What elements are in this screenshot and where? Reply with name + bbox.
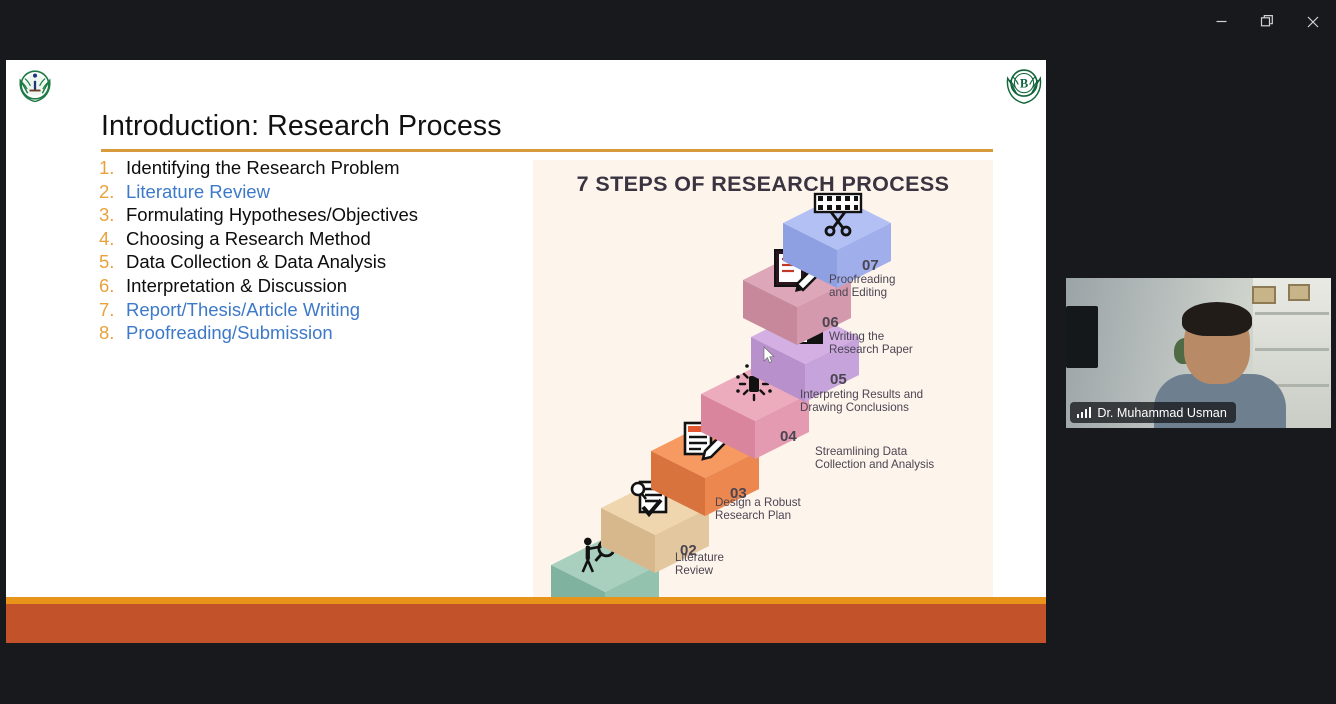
list-item-number: 7. <box>99 299 126 321</box>
title-underline <box>101 149 993 152</box>
footer-band <box>6 604 1046 643</box>
list-item-number: 1. <box>99 157 126 179</box>
signal-bars-icon <box>1077 407 1091 418</box>
participant-name: Dr. Muhammad Usman <box>1097 406 1226 420</box>
step-label-04: Streamlining Data Collection and Analysi… <box>815 446 934 472</box>
list-item: 2. Literature Review <box>99 181 539 205</box>
list-item-number: 3. <box>99 204 126 226</box>
list-item-label: Report/Thesis/Article Writing <box>126 299 360 321</box>
wall-frame <box>1252 286 1276 304</box>
step-label-03: Design a Robust Research Plan <box>715 497 801 523</box>
step-label-07: Proofreading and Editing <box>829 274 895 300</box>
list-item: 6. Interpretation & Discussion <box>99 275 539 299</box>
step-label-05: Interpreting Results and Drawing Conclus… <box>800 389 923 415</box>
research-steps-list: 1. Identifying the Research Problem 2. L… <box>99 157 539 346</box>
institute-monogram-logo: B <box>1000 61 1046 109</box>
list-item-number: 6. <box>99 275 126 297</box>
participant-hair <box>1182 302 1252 336</box>
list-item-label: Literature Review <box>126 181 270 203</box>
list-item-number: 8. <box>99 322 126 344</box>
participant-name-badge: Dr. Muhammad Usman <box>1070 402 1236 423</box>
footer-accent-strip <box>6 597 1046 604</box>
svg-text:B: B <box>1020 76 1028 90</box>
minimize-button[interactable] <box>1198 0 1244 43</box>
list-item-number: 5. <box>99 251 126 273</box>
list-item-number: 4. <box>99 228 126 250</box>
close-button[interactable] <box>1290 0 1336 43</box>
list-item: 4. Choosing a Research Method <box>99 228 539 252</box>
list-item: 8. Proofreading/Submission <box>99 322 539 346</box>
list-item: 3. Formulating Hypotheses/Objectives <box>99 204 539 228</box>
isometric-steps-graphic: 01 02 <box>533 160 993 597</box>
svg-text:06: 06 <box>822 314 839 331</box>
list-item: 7. Report/Thesis/Article Writing <box>99 299 539 323</box>
shared-slide[interactable]: B Introduction: Research Process 1. Iden… <box>6 60 1046 643</box>
research-process-infographic: 7 STEPS OF RESEARCH PROCESS 01 <box>533 160 993 597</box>
list-item-label: Identifying the Research Problem <box>126 157 400 179</box>
window-title-bar <box>0 0 1336 43</box>
page-title: Introduction: Research Process <box>101 110 1001 143</box>
list-item-number: 2. <box>99 181 126 203</box>
wall-frame <box>1288 284 1310 301</box>
university-crest-logo <box>12 62 58 108</box>
svg-text:07: 07 <box>862 257 879 274</box>
list-item-label: Data Collection & Data Analysis <box>126 251 386 273</box>
svg-text:05: 05 <box>830 371 847 388</box>
restore-button[interactable] <box>1244 0 1290 43</box>
mouse-pointer-icon <box>763 346 775 364</box>
list-item: 1. Identifying the Research Problem <box>99 157 539 181</box>
step-label-06: Writing the Research Paper <box>829 331 913 357</box>
list-item-label: Choosing a Research Method <box>126 228 371 250</box>
list-item: 5. Data Collection & Data Analysis <box>99 251 539 275</box>
list-item-label: Formulating Hypotheses/Objectives <box>126 204 418 226</box>
wall-monitor <box>1066 306 1098 368</box>
list-item-label: Interpretation & Discussion <box>126 275 347 297</box>
step-label-02: Literature Review <box>675 552 724 578</box>
svg-text:04: 04 <box>780 428 797 445</box>
meeting-window: B Introduction: Research Process 1. Iden… <box>0 0 1336 704</box>
list-item-label: Proofreading/Submission <box>126 322 333 344</box>
participant-video-tile[interactable]: Dr. Muhammad Usman <box>1066 278 1331 428</box>
